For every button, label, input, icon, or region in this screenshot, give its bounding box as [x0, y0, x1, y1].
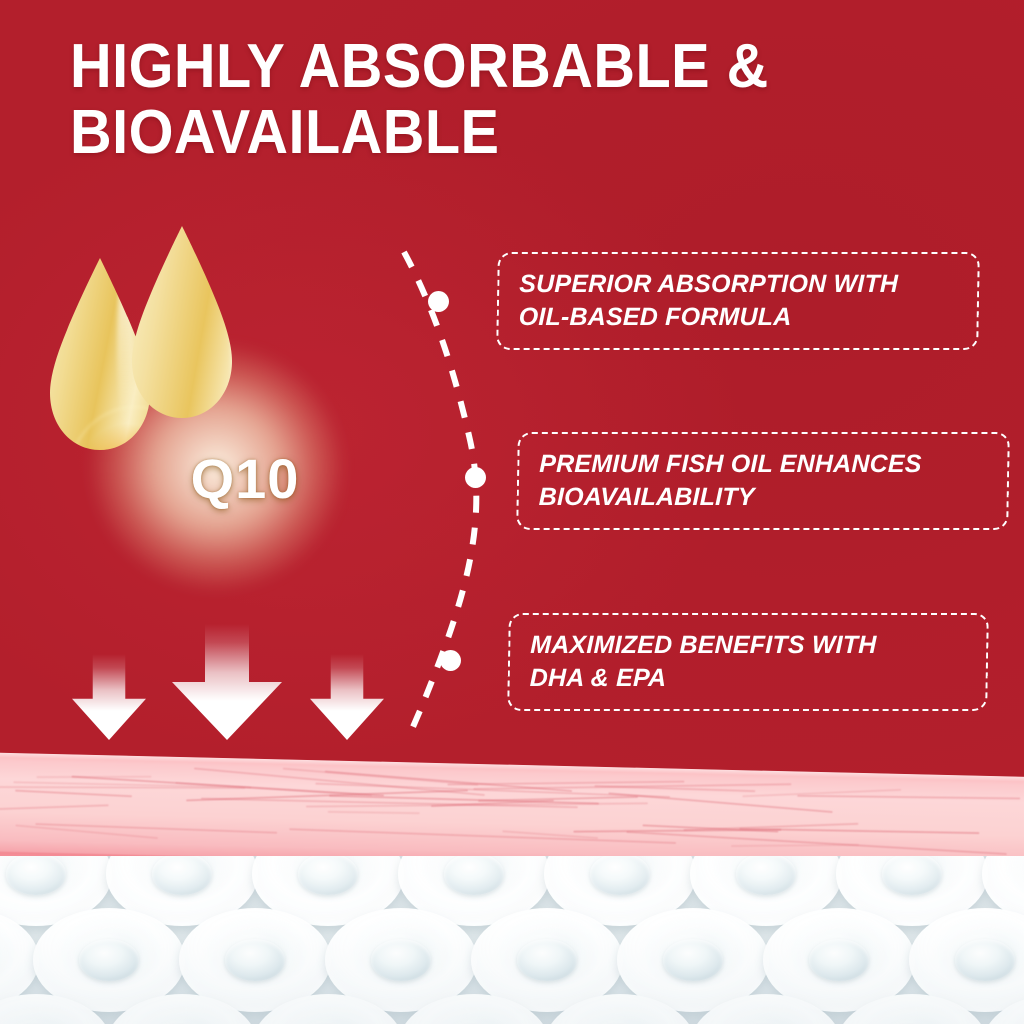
cell-nucleus — [517, 939, 578, 981]
cell-nucleus — [298, 856, 359, 895]
callout-3-line-1: MAXIMIZED BENEFITS WITH — [530, 629, 969, 662]
skin-vein-line — [0, 804, 109, 811]
skin-vein-line — [626, 831, 1006, 855]
cell-membrane-layer — [0, 856, 1024, 1024]
callout-2-line-2: BIOAVAILABILITY — [538, 481, 989, 514]
skin-vein-line — [731, 843, 859, 846]
cell-nucleus — [663, 939, 724, 981]
cell-nucleus — [152, 856, 213, 895]
callout-1-line-2: OIL-BASED FORMULA — [518, 301, 959, 334]
skin-vein-line — [15, 789, 132, 797]
connector-node-3 — [440, 650, 461, 671]
cell-nucleus — [809, 939, 870, 981]
cell-nucleus — [371, 939, 432, 981]
callout-3-line-2: DHA & EPA — [529, 662, 968, 695]
skin-vein-line — [328, 811, 420, 814]
callout-superior-absorption: SUPERIOR ABSORPTION WITH OIL-BASED FORMU… — [496, 252, 980, 350]
callout-2-line-1: PREMIUM FISH OIL ENHANCES — [539, 448, 990, 481]
cell-nucleus — [882, 856, 943, 895]
cell-nucleus — [590, 856, 651, 895]
cell-nucleus — [736, 856, 797, 895]
cell-nucleus — [6, 856, 67, 895]
connector-node-1 — [428, 291, 449, 312]
cell-nucleus — [444, 856, 505, 895]
callout-1-line-1: SUPERIOR ABSORPTION WITH — [519, 268, 960, 301]
connector-node-2 — [465, 467, 486, 488]
skin-vein-line — [798, 794, 1021, 799]
cell-nucleus — [79, 939, 140, 981]
callout-premium-fish-oil: PREMIUM FISH OIL ENHANCES BIOAVAILABILIT… — [516, 432, 1010, 530]
cell-nucleus — [955, 939, 1016, 981]
callout-maximized-benefits: MAXIMIZED BENEFITS WITH DHA & EPA — [507, 613, 989, 711]
cell-nucleus — [225, 939, 286, 981]
